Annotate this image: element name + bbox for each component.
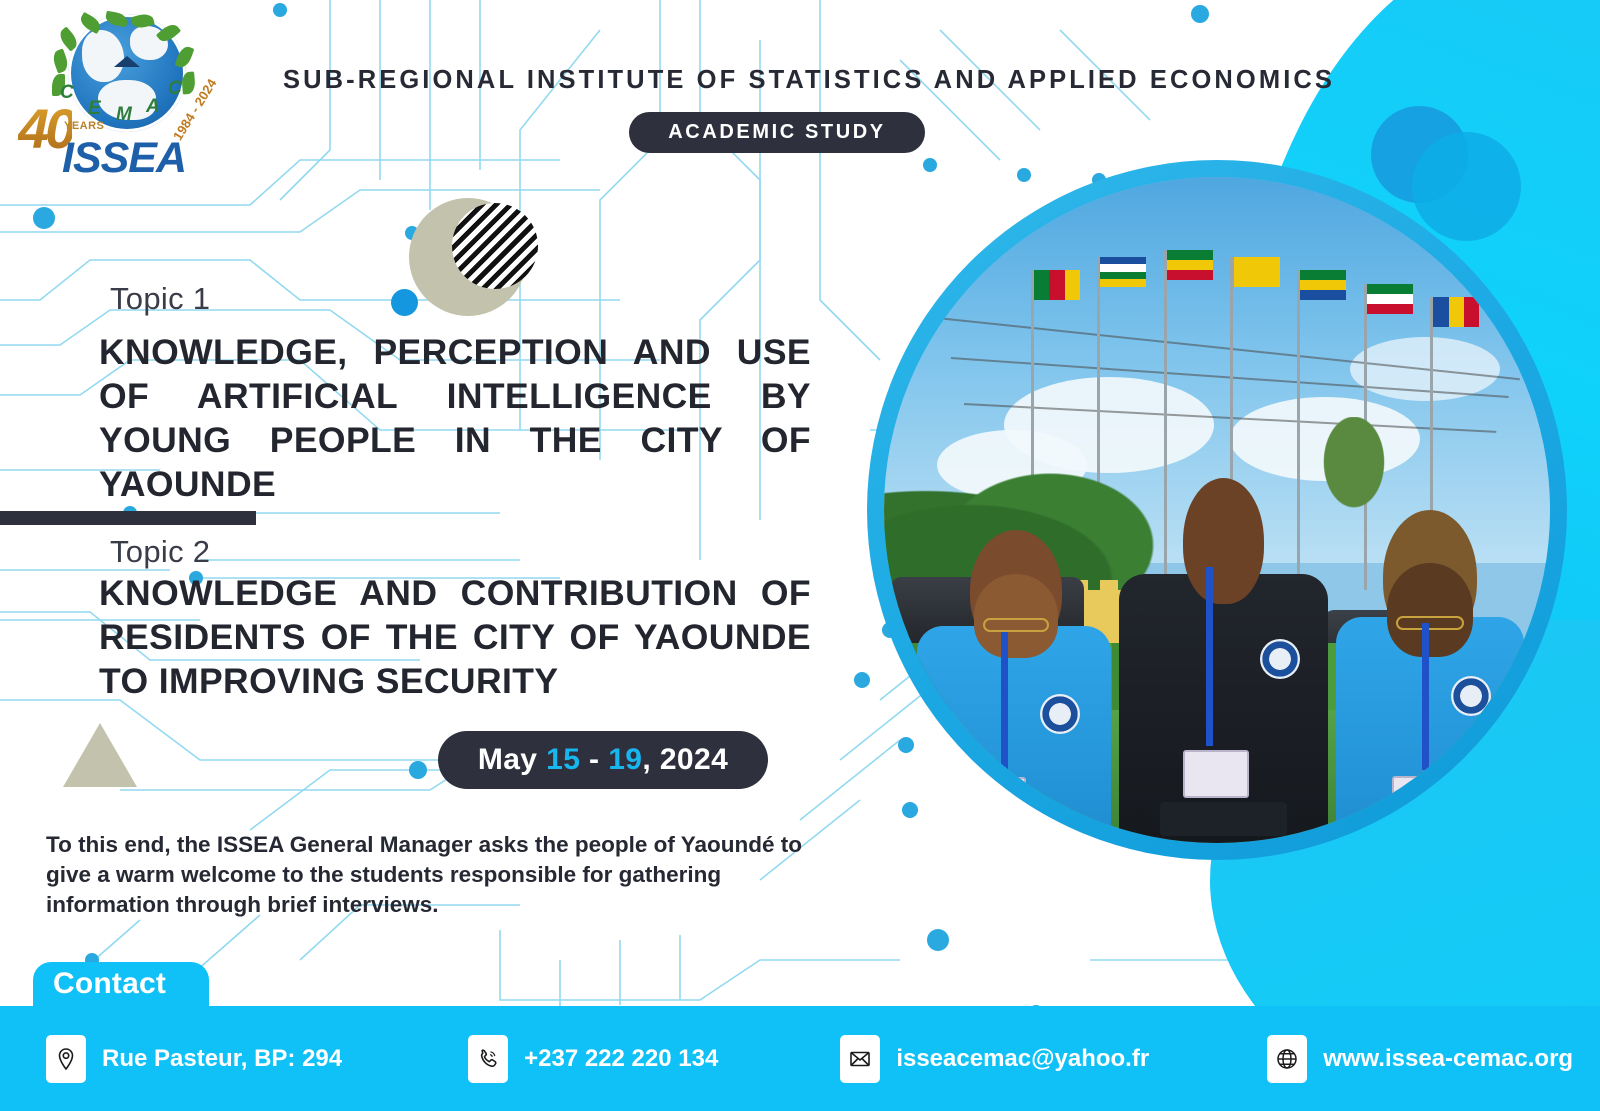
organization-arc-m: M bbox=[116, 104, 132, 126]
date-year: , 2024 bbox=[642, 743, 728, 777]
globe-icon bbox=[1267, 1035, 1307, 1083]
date-badge: May 15 - 19, 2024 bbox=[438, 731, 768, 789]
organization-arc-c1: C bbox=[60, 82, 74, 104]
organization-arc-c2: C bbox=[168, 78, 182, 100]
date-day-end: 19 bbox=[608, 743, 642, 777]
student-right bbox=[1324, 510, 1537, 843]
note-paragraph: To this end, the ISSEA General Manager a… bbox=[46, 830, 816, 920]
contact-website-text: www.issea-cemac.org bbox=[1323, 1045, 1573, 1073]
star-icon bbox=[114, 56, 140, 67]
study-badge-label: ACADEMIC STUDY bbox=[668, 121, 886, 144]
students-photo bbox=[884, 177, 1550, 843]
contact-address-text: Rue Pasteur, BP: 294 bbox=[102, 1045, 342, 1073]
contact-phone-text: +237 222 220 134 bbox=[524, 1045, 718, 1073]
contact-tab-label: Contact bbox=[53, 967, 166, 1001]
contact-item-email: isseacemac@yahoo.fr bbox=[840, 1035, 1149, 1083]
page-title: SUB-REGIONAL INSTITUTE OF STATISTICS AND… bbox=[283, 66, 1363, 95]
flag-equatorial-guinea bbox=[1367, 284, 1413, 314]
contact-row: Rue Pasteur, BP: 294 +237 222 220 134 is… bbox=[0, 1006, 1600, 1111]
status-badge: ACADEMIC STUDY bbox=[629, 112, 925, 153]
topic-1-label: Topic 1 bbox=[110, 281, 210, 317]
date-month: May bbox=[478, 743, 538, 777]
organization-arc-a: A bbox=[146, 96, 160, 118]
flag-car bbox=[1100, 257, 1146, 287]
contact-item-address: Rue Pasteur, BP: 294 bbox=[46, 1035, 342, 1083]
flag-chad bbox=[1433, 297, 1479, 327]
student-left bbox=[904, 523, 1124, 843]
flag-cameroon bbox=[1034, 270, 1080, 300]
flag-cemac bbox=[1234, 257, 1280, 287]
khaki-triangle-decor bbox=[63, 723, 137, 787]
photo-ring bbox=[867, 160, 1567, 860]
contact-tab: Contact bbox=[33, 962, 209, 1006]
blue-dot-decor bbox=[391, 289, 418, 316]
date-separator: - bbox=[589, 743, 599, 777]
location-pin-icon bbox=[46, 1035, 86, 1083]
contact-email-text: isseacemac@yahoo.fr bbox=[896, 1045, 1149, 1073]
topic-1-title: KNOWLEDGE, PERCEPTION AND USE OF ARTIFIC… bbox=[99, 330, 811, 506]
date-day-start: 15 bbox=[546, 743, 580, 777]
contact-item-phone: +237 222 220 134 bbox=[468, 1035, 718, 1083]
flag-congo bbox=[1167, 250, 1213, 280]
student-badge bbox=[1183, 750, 1249, 798]
anniversary-years-label: YEARS bbox=[64, 120, 104, 132]
envelope-icon bbox=[840, 1035, 880, 1083]
poster-root: 40 YEARS C E M A C 1984 - 2024 ISSEA SUB… bbox=[0, 0, 1600, 1111]
phone-icon bbox=[468, 1035, 508, 1083]
section-divider bbox=[0, 511, 256, 525]
institute-acronym: ISSEA bbox=[62, 134, 186, 183]
striped-circle-decor bbox=[452, 203, 538, 289]
contact-item-website: www.issea-cemac.org bbox=[1267, 1035, 1573, 1083]
issea-cemac-logo: 40 YEARS C E M A C 1984 - 2024 ISSEA bbox=[12, 8, 217, 183]
flag-gabon bbox=[1300, 270, 1346, 300]
student-center bbox=[1110, 470, 1336, 843]
topic-2-label: Topic 2 bbox=[110, 534, 210, 570]
organization-arc-e: E bbox=[88, 98, 101, 120]
topic-2-title: KNOWLEDGE AND CONTRIBUTION OF RESIDENTS … bbox=[99, 571, 811, 703]
